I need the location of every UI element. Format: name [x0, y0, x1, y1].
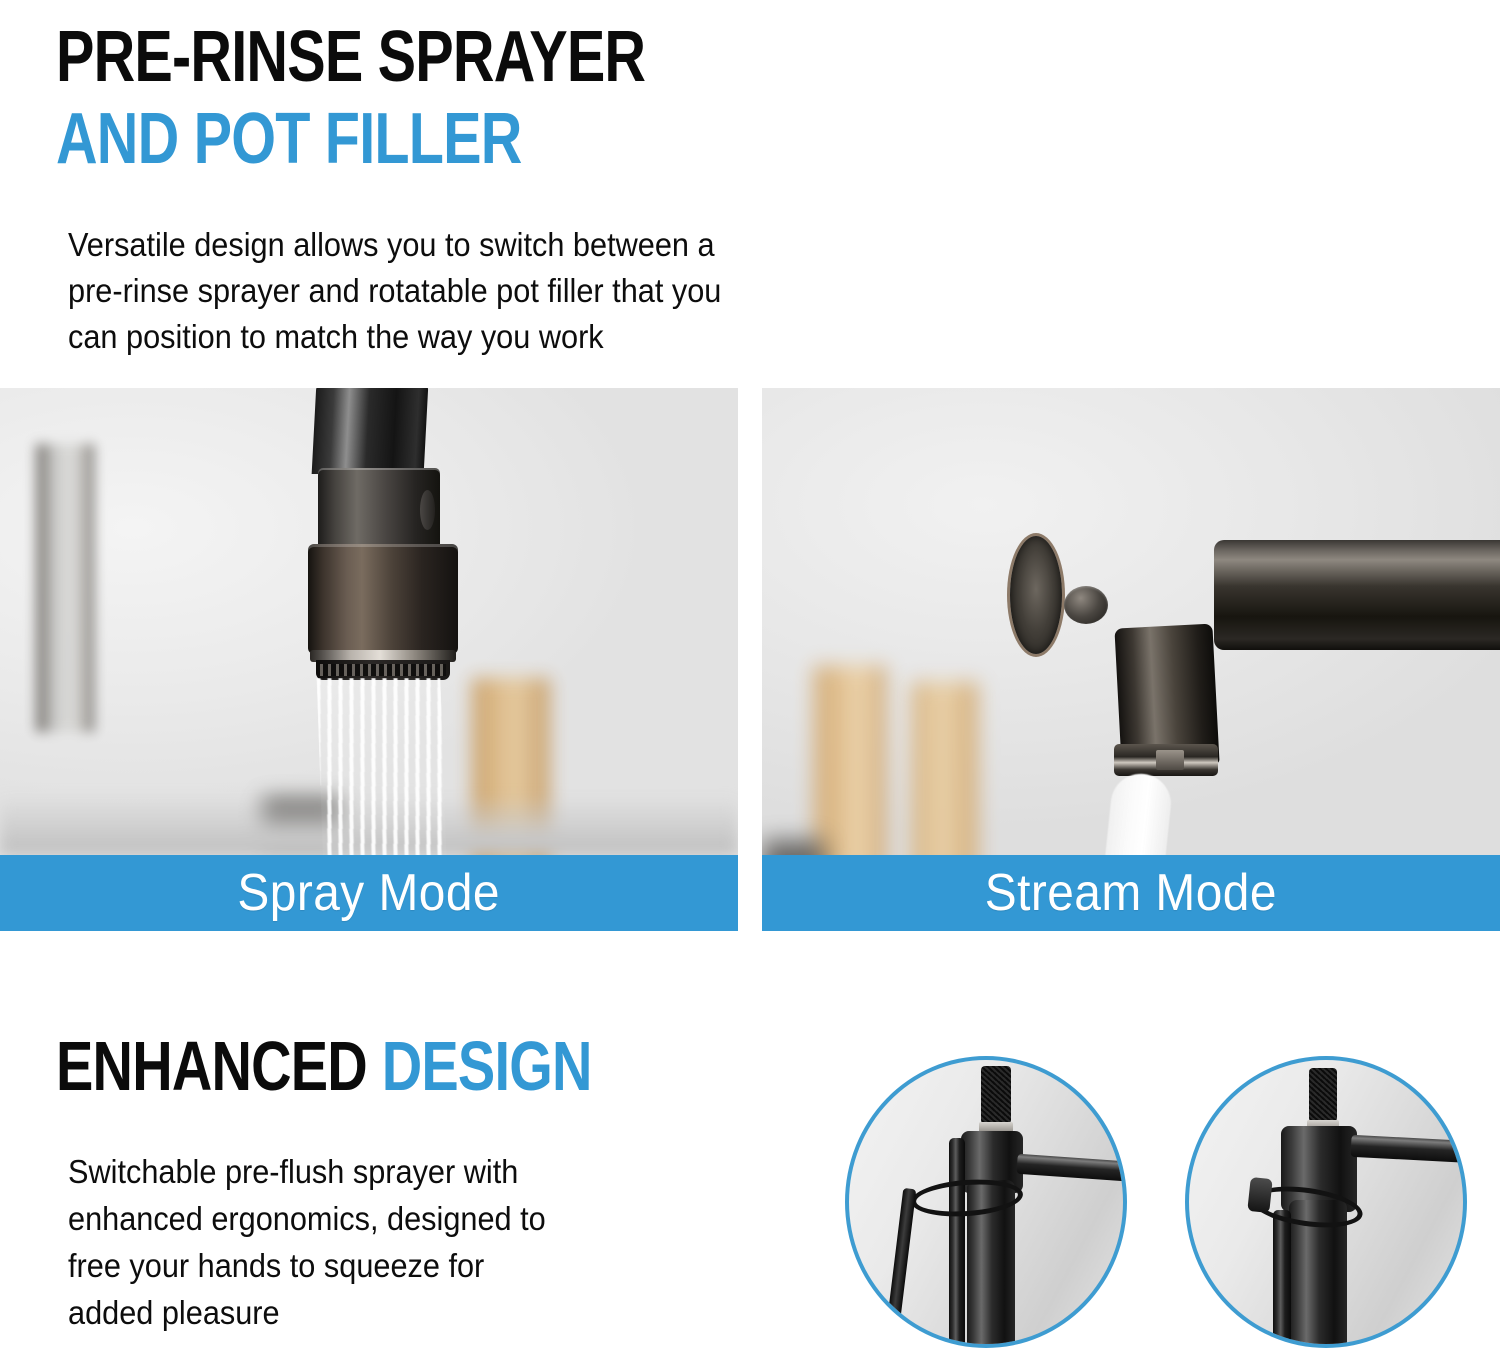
page-title-line-1: PRE-RINSE SPRAYER	[56, 18, 645, 96]
faucet-end-cap	[1010, 536, 1062, 654]
wooden-utensil-blur-1	[814, 666, 886, 855]
spray-nozzle-array	[320, 664, 446, 676]
section-title-blue-part: DESIGN	[382, 1027, 592, 1105]
secondary-tube	[949, 1138, 965, 1348]
knurled-hose-grip	[1309, 1068, 1337, 1122]
faucet-spout-collar	[318, 468, 440, 550]
caption-bar-stream-mode: Stream Mode	[762, 855, 1500, 931]
caption-label-spray-mode: Spray Mode	[238, 865, 501, 921]
caption-label-stream-mode: Stream Mode	[985, 865, 1277, 921]
sprayer-lever-detail-icon	[845, 1056, 1127, 1348]
collar-button-icon	[420, 490, 435, 530]
mode-switch-button-icon	[1064, 586, 1108, 624]
page-title-line-2: AND POT FILLER	[56, 100, 522, 178]
dark-object-blur	[762, 840, 824, 855]
faucet-spout-neck	[312, 388, 429, 474]
support-rod	[883, 1188, 917, 1348]
photo-spray-mode	[0, 388, 738, 855]
nozzle-notch	[1156, 750, 1184, 770]
section-title-black-part: ENHANCED	[56, 1027, 367, 1105]
water-spray-jets	[316, 678, 449, 855]
faucet-arm	[1351, 1135, 1467, 1163]
lever-knob	[1247, 1177, 1272, 1213]
intro-description: Versatile design allows you to switch be…	[68, 222, 998, 360]
faucet-arm	[1016, 1154, 1127, 1182]
wooden-utensil-blur-2	[912, 682, 978, 855]
faucet-horizontal-arm	[1214, 540, 1500, 650]
panel-spray-mode: Spray Mode	[0, 388, 738, 931]
secondary-tube	[1273, 1210, 1291, 1348]
faucet-spray-head-icon	[308, 544, 458, 654]
caption-bar-spray-mode: Spray Mode	[0, 855, 738, 931]
photo-stream-mode	[762, 388, 1500, 855]
enhanced-design-description: Switchable pre-flush sprayer with enhanc…	[68, 1148, 738, 1336]
wall-frame-blur	[36, 444, 94, 732]
panel-stream-mode: Stream Mode	[762, 388, 1500, 931]
product-feature-infographic: PRE-RINSE SPRAYER AND POT FILLER Versati…	[0, 0, 1500, 1370]
section-title-enhanced-design: ENHANCED DESIGN	[56, 1028, 592, 1104]
knurled-hose-grip	[981, 1066, 1011, 1124]
sprayer-handle-detail-icon	[1185, 1056, 1467, 1348]
